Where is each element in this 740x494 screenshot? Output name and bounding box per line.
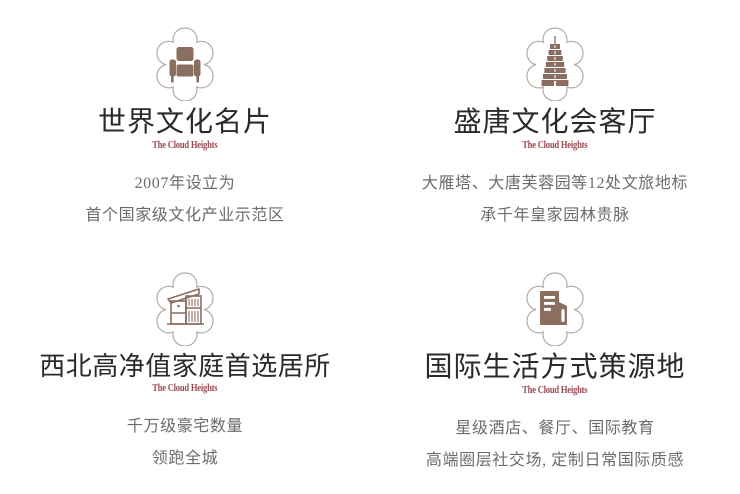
- card-subtitle: The Cloud Heights: [152, 139, 217, 151]
- description-line: 首个国家级文化产业示范区: [85, 200, 284, 232]
- card-title: 盛唐文化会客厅: [453, 108, 656, 138]
- description-line: 星级酒店、餐厅、国际教育: [426, 413, 684, 445]
- card-description: 2007年设立为 首个国家级文化产业示范区: [85, 168, 284, 232]
- card-title: 西北高净值家庭首选居所: [39, 353, 331, 381]
- card-subtitle: The Cloud Heights: [152, 382, 217, 394]
- description-line: 高端圈层社交场, 定制日常国际质感: [426, 445, 684, 477]
- feature-card-international-lifestyle: 国际生活方式策源地 The Cloud Heights 星级酒店、餐厅、国际教育…: [370, 247, 740, 494]
- description-line: 承千年皇家园林贵脉: [422, 200, 688, 232]
- feature-grid: 世界文化名片 The Cloud Heights 2007年设立为 首个国家级文…: [0, 0, 740, 494]
- card-description: 星级酒店、餐厅、国际教育 高端圈层社交场, 定制日常国际质感: [426, 413, 684, 477]
- buildings-icon: [512, 267, 598, 347]
- card-title: 世界文化名片: [98, 108, 272, 138]
- pagoda-icon: [512, 22, 598, 102]
- description-line: 2007年设立为: [85, 168, 284, 200]
- feature-card-world-culture: 世界文化名片 The Cloud Heights 2007年设立为 首个国家级文…: [0, 0, 370, 247]
- feature-card-luxury-residence: 西北高净值家庭首选居所 The Cloud Heights 千万级豪宅数量 领跑…: [0, 247, 370, 494]
- villa-icon: [142, 267, 228, 347]
- description-line: 大雁塔、大唐芙蓉园等12处文旅地标: [422, 168, 688, 200]
- card-description: 大雁塔、大唐芙蓉园等12处文旅地标 承千年皇家园林贵脉: [422, 168, 688, 232]
- feature-card-tang-culture: 盛唐文化会客厅 The Cloud Heights 大雁塔、大唐芙蓉园等12处文…: [370, 0, 740, 247]
- card-subtitle: The Cloud Heights: [522, 384, 587, 396]
- card-subtitle: The Cloud Heights: [522, 139, 587, 151]
- card-description: 千万级豪宅数量 领跑全城: [127, 411, 243, 475]
- armchair-icon: [142, 22, 228, 102]
- description-line: 千万级豪宅数量: [127, 411, 243, 443]
- card-title: 国际生活方式策源地: [424, 353, 685, 383]
- description-line: 领跑全城: [127, 443, 243, 475]
